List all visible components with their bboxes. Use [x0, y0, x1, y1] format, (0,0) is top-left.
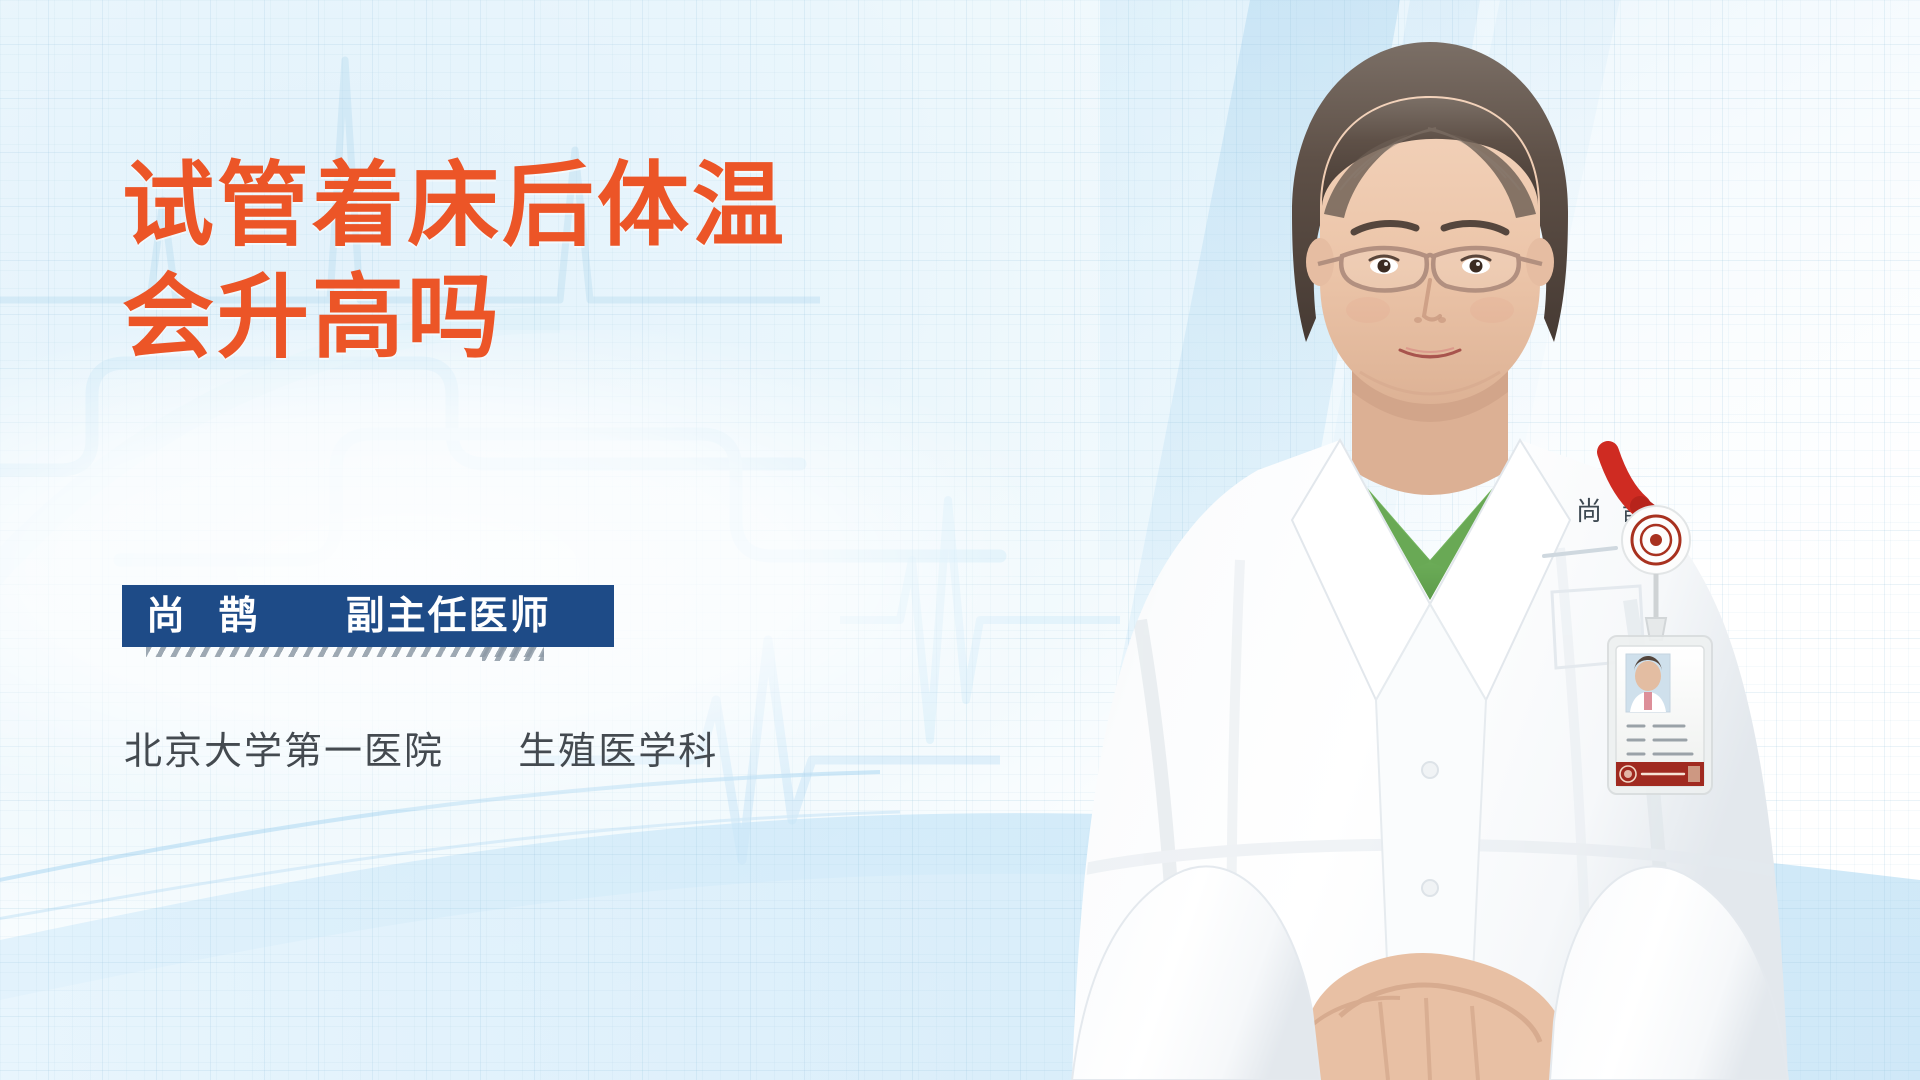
doctor-name: 尚 鹊 [146, 597, 268, 636]
department-name: 生殖医学科 [518, 729, 718, 773]
title-block: 试管着床后体温 会升高吗 [122, 150, 982, 374]
title-line-1: 试管着床后体温 [122, 150, 982, 262]
title-line-2: 会升高吗 [122, 262, 982, 374]
video-cover-canvas: 试管着床后体温 会升高吗 尚 鹊 副主任医师 北京大学第一医院 生殖医学科 [0, 0, 1920, 1080]
hospital-department-line: 北京大学第一医院 生殖医学科 [124, 720, 718, 775]
doctor-portrait: 尚 鹊 [940, 0, 1920, 1080]
doctor-role: 副主任医师 [346, 597, 551, 636]
hospital-name: 北京大学第一医院 [124, 729, 444, 773]
doctor-name-banner: 尚 鹊 副主任医师 [122, 585, 614, 647]
